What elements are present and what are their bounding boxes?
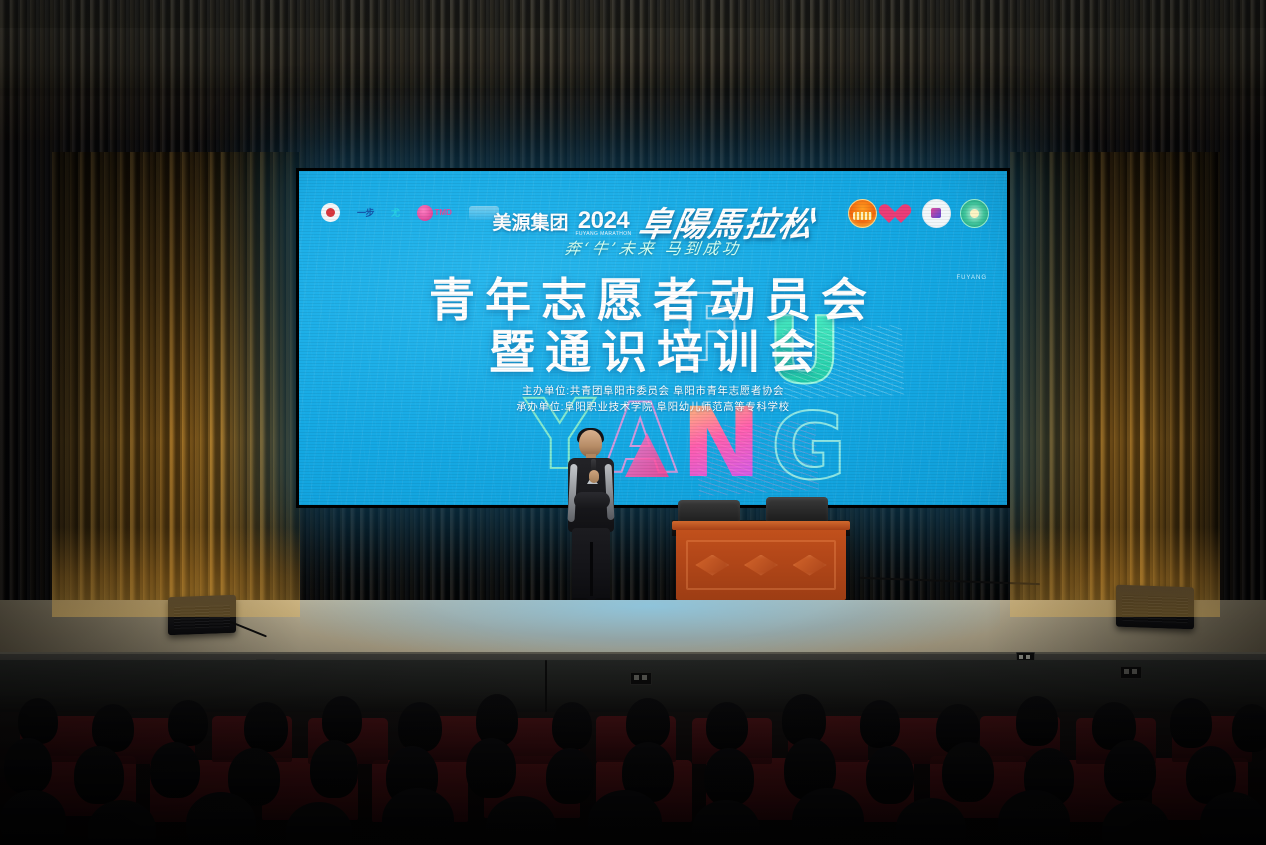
podium-tabletop	[672, 521, 850, 530]
marathon-year-block: 2024 FUYANG MARATHON	[575, 207, 631, 237]
marathon-slogan: 奔‘牛’未来 马到成功	[299, 235, 1007, 259]
presenter-leg-split	[590, 542, 593, 596]
stage-floor-blue-reflection	[300, 600, 1000, 658]
main-title-line-2: 暨通识培训会	[299, 327, 1007, 379]
led-screen: FUYANG F U Y A N G 一步 尤 TMD	[299, 171, 1007, 505]
marathon-brand: 美源集团	[492, 208, 568, 235]
wooden-podium-table	[676, 528, 846, 600]
auditorium-stage-photo: FUYANG F U Y A N G 一步 尤 TMD	[0, 0, 1266, 845]
presenter-head	[579, 430, 602, 457]
podium-diamond-3	[793, 555, 827, 576]
podium-front-panel	[686, 540, 836, 590]
audience-darkness-overlay	[0, 660, 1266, 845]
presenter-on-stage	[560, 430, 622, 612]
seated-audience	[0, 660, 1266, 845]
presenter-hand	[589, 470, 599, 483]
organizer-line-1: 主办单位:共青团阜阳市委员会 阜阳市青年志愿者协会	[299, 383, 1007, 399]
marathon-year: 2024	[578, 207, 629, 234]
led-screen-frame: FUYANG F U Y A N G 一步 尤 TMD	[296, 168, 1010, 508]
presenter-folded-arm	[574, 492, 610, 509]
main-title-line-1: 青年志愿者动员会	[299, 275, 1007, 327]
organizer-block: 主办单位:共青团阜阳市委员会 阜阳市青年志愿者协会 承办单位:阜阳职业技术学院 …	[299, 383, 1007, 416]
podium-diamond-2	[744, 555, 778, 576]
organizer-line-2: 承办单位:阜阳职业技术学院 阜阳幼儿师范高等专科学校	[299, 399, 1007, 415]
stage-edge-highlight	[0, 652, 1266, 654]
podium-diamond-1	[695, 555, 729, 576]
main-title-block: 青年志愿者动员会 暨通识培训会	[299, 275, 1007, 378]
